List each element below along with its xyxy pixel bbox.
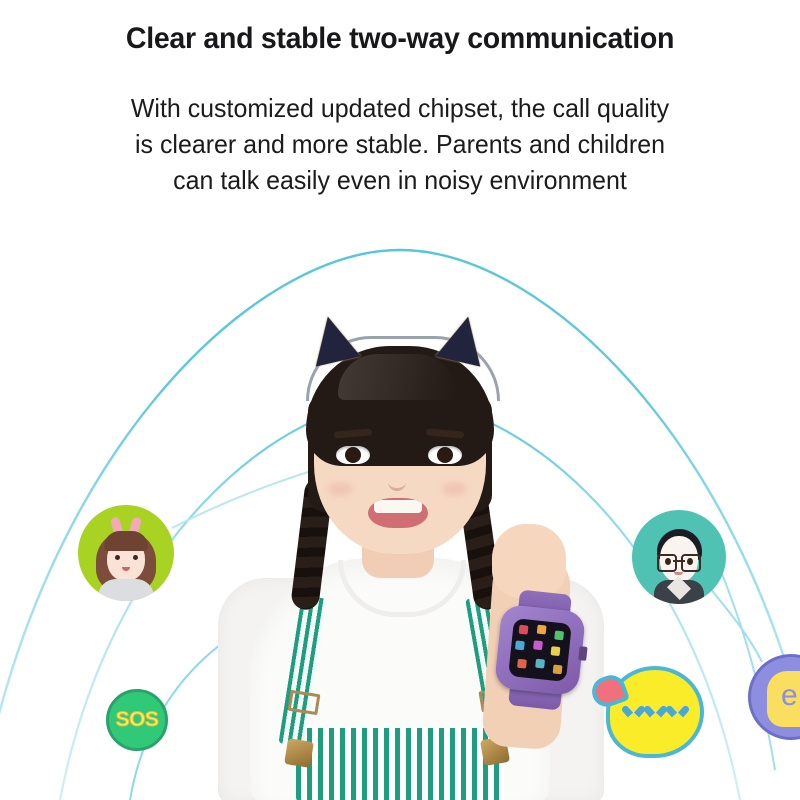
subtitle-line-1: With customized updated chipset, the cal… [54, 90, 745, 126]
watch-case [494, 604, 586, 696]
mom-eye-right [133, 555, 138, 560]
nose [388, 468, 406, 491]
eye-right [428, 446, 462, 464]
chat-heart-dots [610, 704, 700, 716]
watch-app-icon[interactable] [519, 625, 529, 635]
watch-app-icon[interactable] [553, 664, 563, 674]
mom-eye-left [115, 555, 120, 560]
heart-dot-2 [649, 704, 662, 716]
watch-app-icon[interactable] [535, 659, 545, 669]
badge-dad-avatar[interactable] [632, 510, 726, 604]
strap-clip-left [284, 738, 314, 768]
glasses-icon [657, 554, 701, 568]
child-photo [210, 310, 590, 800]
watch-app-icon[interactable] [517, 659, 527, 669]
watch-app-icon[interactable] [551, 646, 561, 656]
page-subtitle: With customized updated chipset, the cal… [54, 90, 745, 198]
heart-dot-1 [627, 704, 640, 716]
eye-left [336, 446, 370, 464]
cheek-right [442, 482, 466, 496]
cheek-left [328, 482, 352, 496]
watch-screen[interactable] [508, 618, 572, 682]
badge-mom-avatar[interactable] [78, 505, 174, 601]
watch-crown-button[interactable] [578, 646, 587, 661]
kids-smartwatch[interactable] [494, 604, 586, 696]
fist [492, 524, 566, 598]
mom-body [98, 579, 154, 601]
page-title: Clear and stable two-way communication [20, 22, 780, 56]
heart-dot-3 [671, 704, 684, 716]
wallet-glyph: e [781, 681, 798, 711]
product-feature-banner: Clear and stable two-way communication W… [0, 0, 800, 800]
striped-overall-bib [296, 728, 504, 800]
watch-app-icon[interactable] [537, 625, 547, 635]
product-scene: SOS e [0, 210, 800, 800]
badge-chat[interactable] [606, 666, 704, 758]
smiling-mouth [368, 498, 428, 528]
sos-label: SOS [116, 708, 159, 732]
subtitle-line-2: is clearer and more stable. Parents and … [54, 126, 745, 162]
watch-app-icon[interactable] [533, 640, 543, 650]
watch-app-icon[interactable] [515, 640, 525, 650]
strap-buckle-left [288, 690, 321, 715]
badge-sos[interactable]: SOS [106, 689, 168, 751]
subtitle-line-3: can talk easily even in noisy environmen… [54, 162, 745, 198]
watch-app-icon[interactable] [554, 630, 564, 640]
mom-bangs [104, 531, 148, 551]
